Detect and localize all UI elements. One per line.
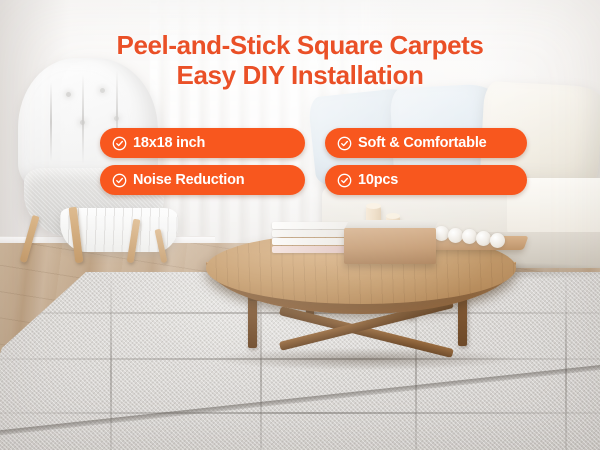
chair-tuft — [66, 92, 71, 97]
decor-bead — [448, 228, 463, 243]
rug-tile-seam — [565, 272, 567, 450]
decor-bead — [490, 233, 505, 248]
chair-crease — [50, 82, 52, 162]
headline-line-1: Peel-and-Stick Square Carpets — [0, 30, 600, 60]
feature-pill-label: Soft & Comfortable — [358, 135, 487, 151]
feature-pill-size[interactable]: 18x18 inch — [100, 128, 305, 158]
check-circle-icon — [112, 136, 127, 151]
chair-leg — [20, 215, 40, 263]
feature-pill-list: 18x18 inch Soft & Comfortable Noise Redu… — [100, 128, 527, 195]
check-circle-icon — [337, 136, 352, 151]
candle-top — [386, 213, 400, 219]
candle-top — [366, 203, 381, 209]
decor-bead — [462, 229, 477, 244]
product-banner: Peel-and-Stick Square Carpets Easy DIY I… — [0, 0, 600, 450]
feature-pill-label: 18x18 inch — [133, 135, 205, 151]
feature-pill-comfort[interactable]: Soft & Comfortable — [325, 128, 527, 158]
decor-bead — [434, 226, 449, 241]
rug-tile-seam — [110, 272, 112, 450]
decor-bead — [476, 231, 491, 246]
headline-line-2: Easy DIY Installation — [0, 60, 600, 90]
table-shadow — [214, 348, 514, 370]
check-circle-icon — [112, 173, 127, 188]
wooden-box — [344, 228, 436, 264]
feature-pill-noise[interactable]: Noise Reduction — [100, 165, 305, 195]
rug-tile-seam — [0, 412, 600, 414]
feature-pill-label: 10pcs — [358, 172, 398, 188]
check-circle-icon — [337, 173, 352, 188]
coffee-table — [196, 226, 526, 366]
feature-pill-quantity[interactable]: 10pcs — [325, 165, 527, 195]
feature-pill-label: Noise Reduction — [133, 172, 244, 188]
page-title: Peel-and-Stick Square Carpets Easy DIY I… — [0, 30, 600, 90]
